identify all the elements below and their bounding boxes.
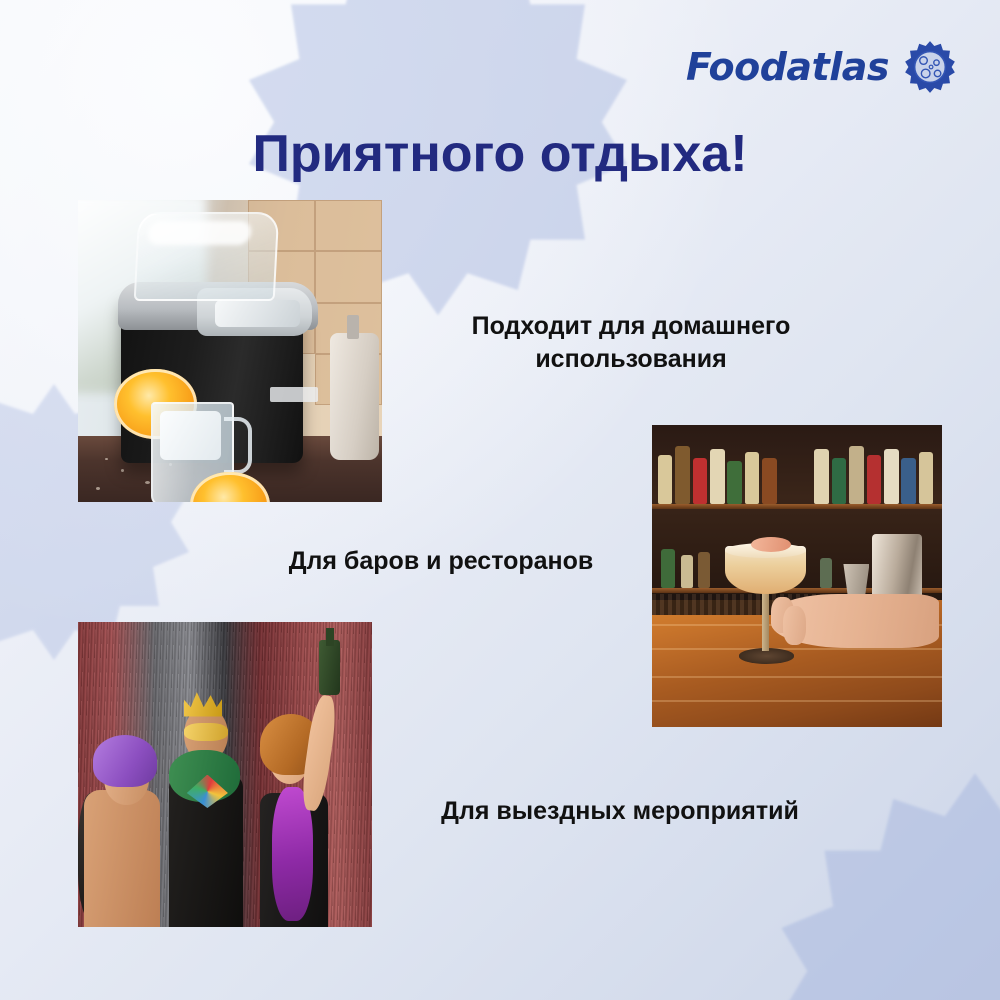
page-title: Приятного отдыха!	[0, 126, 1000, 183]
promo-slide: Foodatlas Приятного отдыха!	[0, 0, 1000, 1000]
countertop-ice-maker-photo	[78, 200, 382, 502]
feature-caption-bars-restaurants: Для баров и ресторанов	[216, 545, 666, 578]
brand-logo[interactable]: Foodatlas	[686, 40, 957, 94]
feature-caption-home-use: Подходит для домашнего использования	[406, 310, 856, 375]
gear-icon	[760, 756, 1000, 1000]
bar-cocktail-photo	[652, 425, 942, 727]
gear-globe-icon	[903, 40, 957, 94]
brand-name: Foodatlas	[686, 45, 889, 89]
party-celebration-photo	[78, 622, 372, 927]
feature-caption-outdoor-events: Для выездных мероприятий	[395, 795, 845, 828]
